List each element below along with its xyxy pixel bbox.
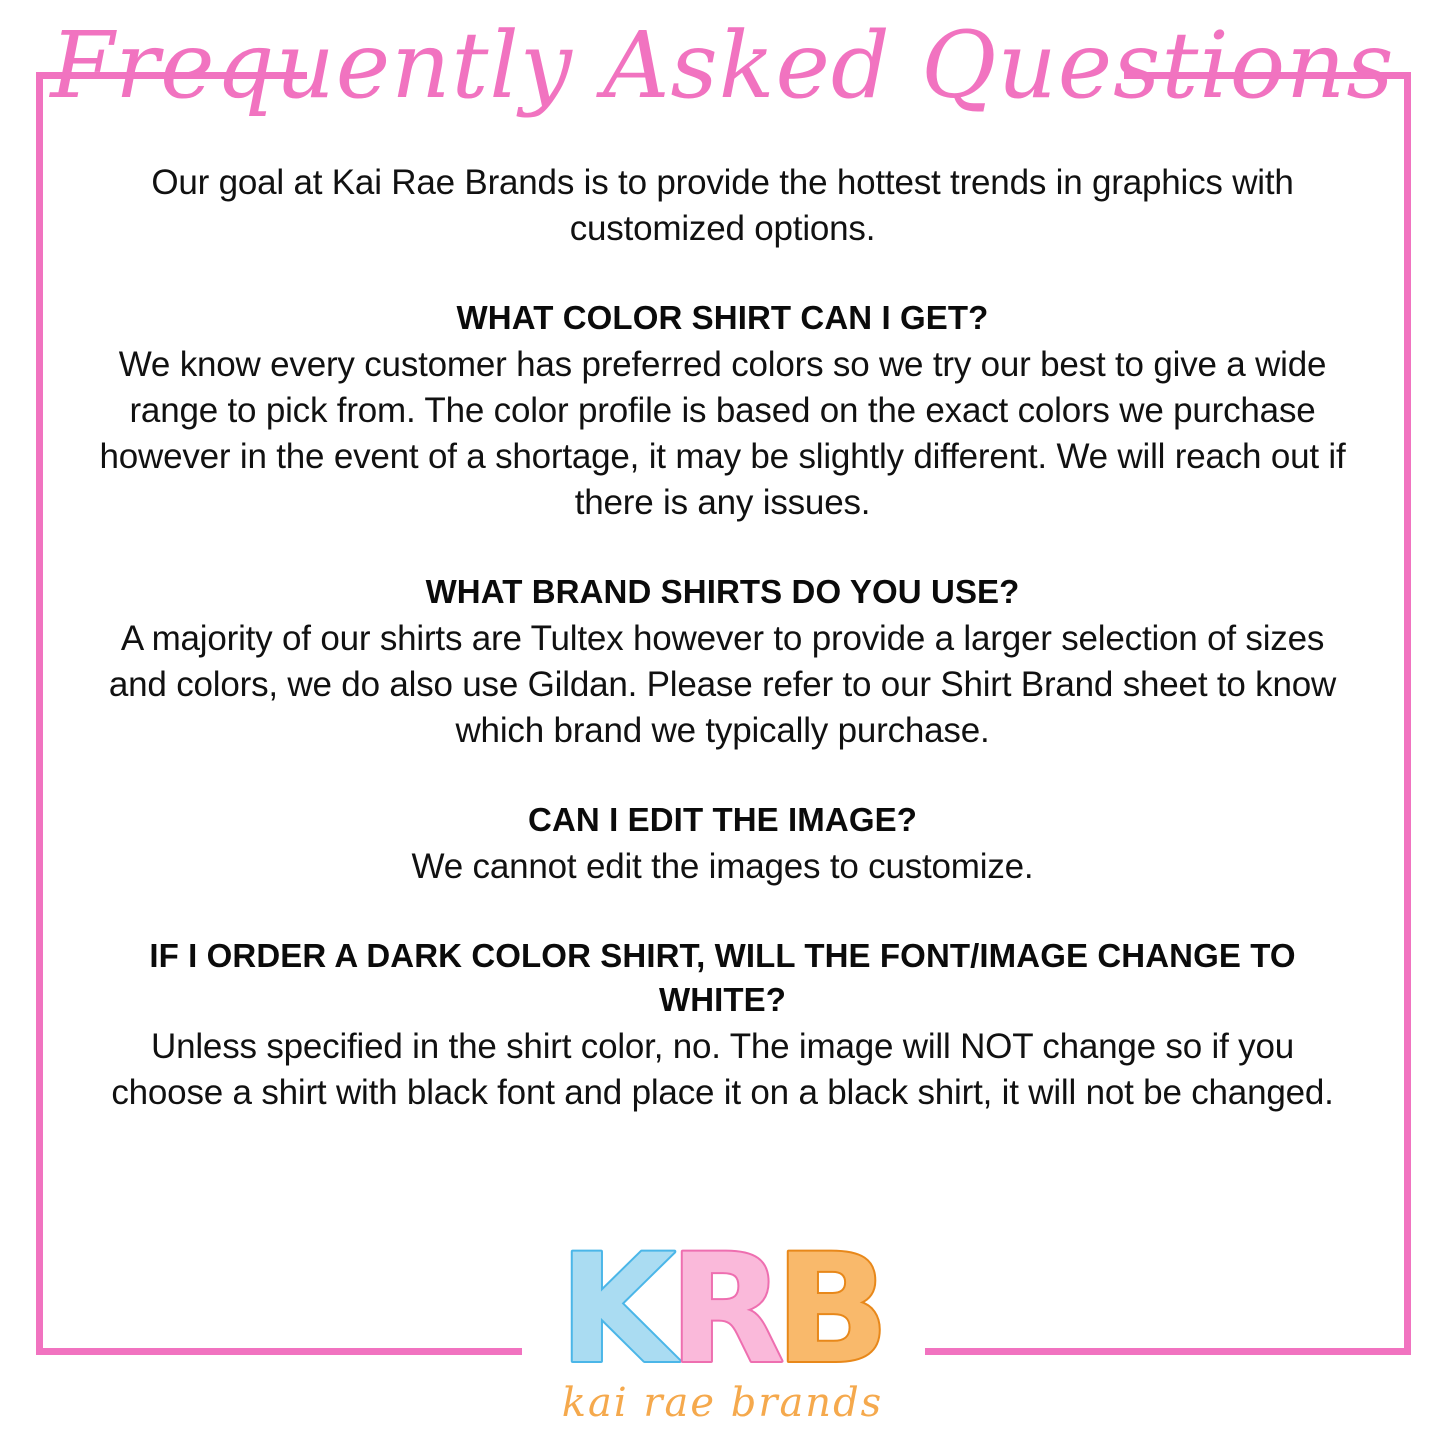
krb-monogram-icon: K R B	[0, 1243, 1445, 1378]
faq-graphic: Frequently Asked Questions Our goal at K…	[0, 0, 1445, 1445]
faq-item-edit: CAN I EDIT THE IMAGE? We cannot edit the…	[95, 798, 1350, 890]
faq-item-brand: WHAT BRAND SHIRTS DO YOU USE? A majority…	[95, 570, 1350, 754]
faq-question-color: WHAT COLOR SHIRT CAN I GET?	[95, 296, 1350, 340]
page-title: Frequently Asked Questions	[0, 18, 1445, 115]
svg-text:B: B	[775, 1243, 889, 1378]
svg-text:K: K	[559, 1243, 680, 1378]
faq-answer-color: We know every customer has preferred col…	[95, 342, 1350, 526]
frame-right-border	[1404, 72, 1411, 1355]
faq-content: Our goal at Kai Rae Brands is to provide…	[95, 160, 1350, 1116]
faq-item-dark-shirt: IF I ORDER A DARK COLOR SHIRT, WILL THE …	[95, 934, 1350, 1116]
faq-item-color: WHAT COLOR SHIRT CAN I GET? We know ever…	[95, 296, 1350, 526]
brand-logo: K R B kai rae brands	[0, 1243, 1445, 1426]
brand-wordmark: kai rae brands	[0, 1380, 1445, 1426]
faq-question-edit: CAN I EDIT THE IMAGE?	[95, 798, 1350, 842]
intro-paragraph: Our goal at Kai Rae Brands is to provide…	[95, 160, 1350, 252]
faq-answer-edit: We cannot edit the images to customize.	[95, 844, 1350, 890]
faq-answer-dark-shirt: Unless specified in the shirt color, no.…	[95, 1024, 1350, 1116]
frame-left-border	[36, 72, 43, 1355]
faq-answer-brand: A majority of our shirts are Tultex howe…	[95, 616, 1350, 754]
faq-question-brand: WHAT BRAND SHIRTS DO YOU USE?	[95, 570, 1350, 614]
svg-text:R: R	[669, 1243, 785, 1378]
faq-question-dark-shirt: IF I ORDER A DARK COLOR SHIRT, WILL THE …	[95, 934, 1350, 1022]
